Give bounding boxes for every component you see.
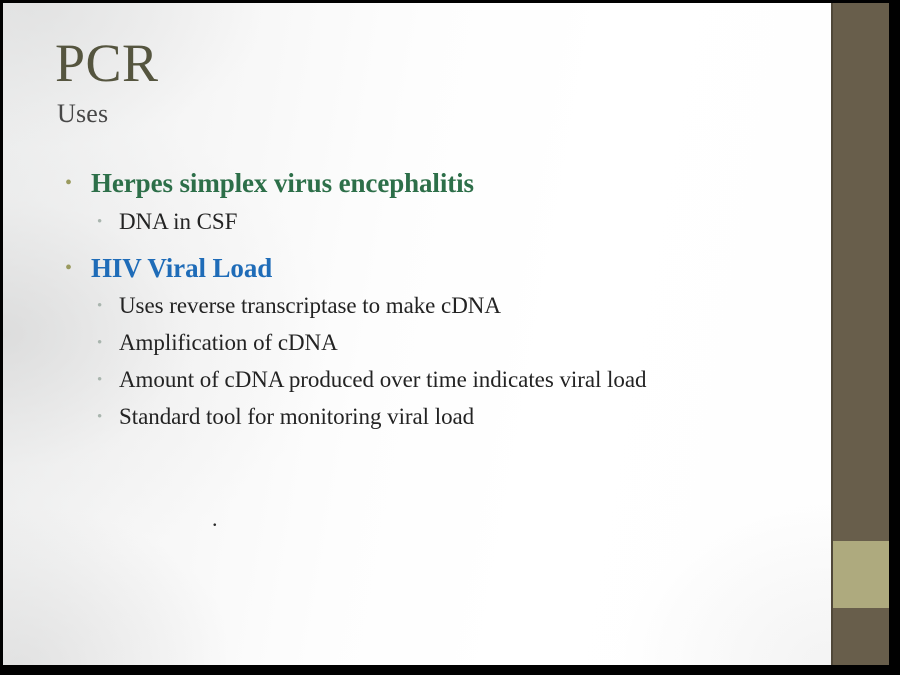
list-item-label: Standard tool for monitoring viral load bbox=[119, 399, 805, 435]
slide-title: PCR bbox=[55, 36, 755, 91]
bullet-dot-icon: • bbox=[97, 299, 119, 314]
sidebar-edge-line bbox=[831, 3, 833, 665]
frame-border-bottom bbox=[0, 665, 900, 675]
list-item-label: Amplification of cDNA bbox=[119, 325, 805, 361]
bullet-dot-icon: • bbox=[97, 373, 119, 388]
bullet-dot-icon: • bbox=[97, 410, 119, 425]
list-item: • Amplification of cDNA bbox=[97, 325, 805, 361]
list-item: • Herpes simplex virus encephalitis bbox=[65, 166, 805, 202]
frame-border-right bbox=[889, 0, 900, 675]
list-item: • HIV Viral Load bbox=[65, 251, 805, 287]
list-item-label: DNA in CSF bbox=[119, 204, 805, 240]
slide-subtitle: Uses bbox=[57, 99, 755, 129]
bullet-dot-icon: • bbox=[97, 215, 119, 230]
stray-period-mark: . bbox=[212, 508, 218, 530]
frame-border-left bbox=[0, 0, 3, 675]
list-item: • Amount of cDNA produced over time indi… bbox=[97, 362, 805, 398]
list-item-label: Amount of cDNA produced over time indica… bbox=[119, 362, 805, 398]
list-item: • Uses reverse transcriptase to make cDN… bbox=[97, 288, 805, 324]
list-item-label: HIV Viral Load bbox=[91, 251, 805, 287]
slide-canvas: PCR Uses • Herpes simplex virus encephal… bbox=[3, 3, 831, 665]
list-item: • Standard tool for monitoring viral loa… bbox=[97, 399, 805, 435]
list-item-label: Herpes simplex virus encephalitis bbox=[91, 166, 805, 202]
bullet-dot-icon: • bbox=[97, 336, 119, 351]
spacer bbox=[65, 241, 805, 251]
list-item-label: Uses reverse transcriptase to make cDNA bbox=[119, 288, 805, 324]
bullet-dot-icon: • bbox=[65, 258, 91, 278]
presentation-slide: PCR Uses • Herpes simplex virus encephal… bbox=[0, 0, 900, 675]
sidebar-accent-block bbox=[833, 541, 889, 608]
list-item: • DNA in CSF bbox=[97, 204, 805, 240]
bullet-dot-icon: • bbox=[65, 173, 91, 193]
bullet-list: • Herpes simplex virus encephalitis • DN… bbox=[65, 166, 805, 436]
frame-border-top bbox=[0, 0, 900, 3]
title-block: PCR Uses bbox=[55, 36, 755, 129]
